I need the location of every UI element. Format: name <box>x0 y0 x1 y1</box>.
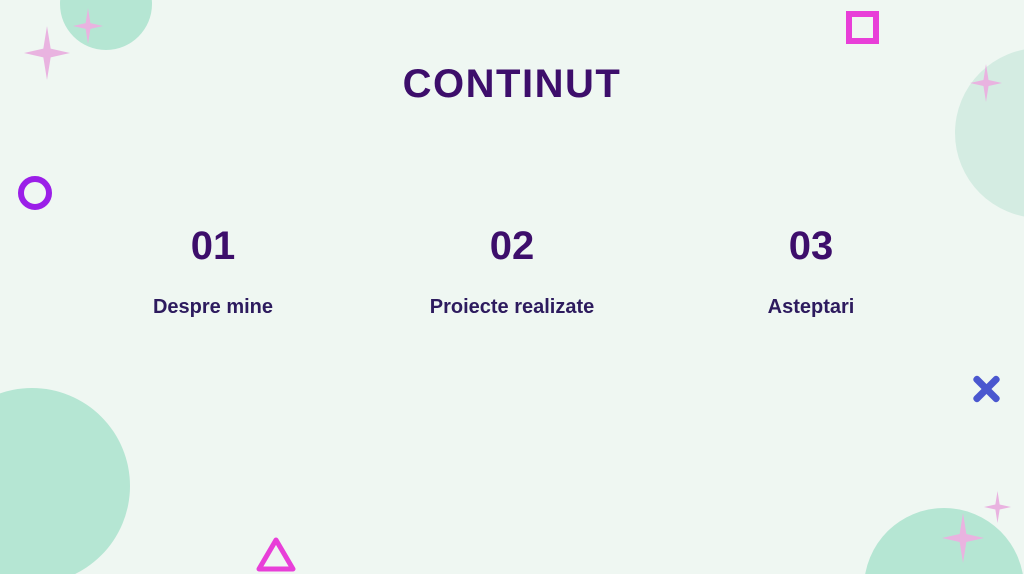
content-items-row: 01 Despre mine 02 Proiecte realizate 03 … <box>64 225 960 319</box>
content-item-03[interactable]: 03 Asteptari <box>662 225 960 319</box>
content-item-01[interactable]: 01 Despre mine <box>64 225 362 319</box>
item-label: Asteptari <box>662 296 960 319</box>
slide-canvas: CONTINUT 01 Despre mine 02 Proiecte real… <box>0 0 1024 574</box>
item-label: Despre mine <box>64 296 362 319</box>
item-number: 03 <box>662 225 960 267</box>
slide-content: CONTINUT 01 Despre mine 02 Proiecte real… <box>0 0 1024 574</box>
item-number: 02 <box>363 225 661 267</box>
item-number: 01 <box>64 225 362 267</box>
content-item-02[interactable]: 02 Proiecte realizate <box>363 225 661 319</box>
page-title: CONTINUT <box>0 62 1024 107</box>
item-label: Proiecte realizate <box>363 296 661 319</box>
